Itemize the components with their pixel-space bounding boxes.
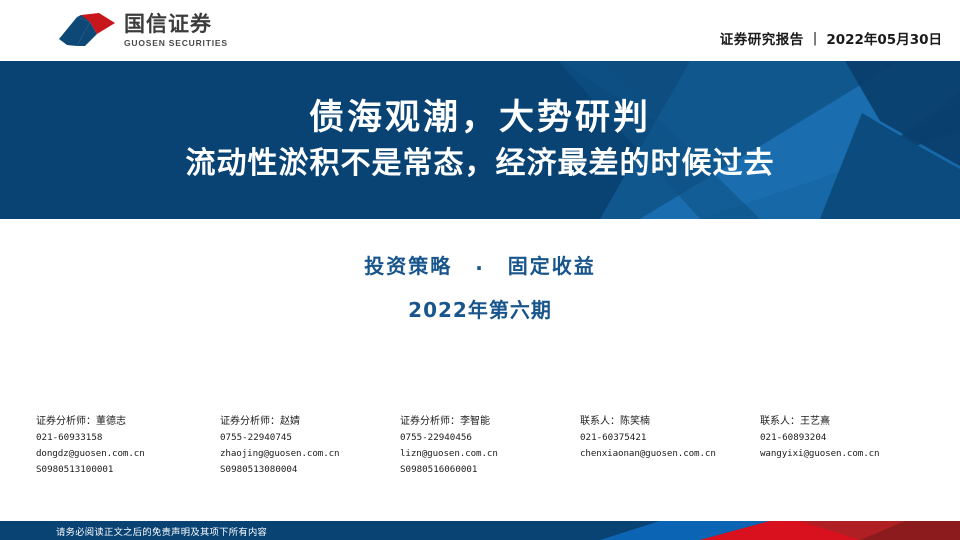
analyst-license: S0980516060001 bbox=[400, 462, 544, 478]
report-title: 债海观潮，大势研判 bbox=[309, 98, 651, 138]
page-header: 国信证券 GUOSEN SECURITIES 证券研究报告 | 2022年05月… bbox=[0, 0, 960, 61]
contact-person-email[interactable]: wangyixi@guosen.com.cn bbox=[760, 446, 914, 462]
brand-name-cn: 国信证券 bbox=[124, 13, 228, 35]
contact-card: 联系人：王艺熹 021-60893204 wangyixi@guosen.com… bbox=[724, 414, 914, 478]
report-date: 2022年05月30日 bbox=[826, 28, 942, 48]
contact-person-email[interactable]: chenxiaonan@guosen.com.cn bbox=[580, 446, 724, 462]
header-divider: | bbox=[813, 30, 818, 46]
report-subtitle: 流动性淤积不是常态，经济最差的时候过去 bbox=[186, 146, 775, 182]
analyst-phone: 0755-22940745 bbox=[220, 430, 364, 446]
contact-person-phone: 021-60375421 bbox=[580, 430, 724, 446]
series-separator-dot: · bbox=[475, 256, 485, 280]
series-category-strategy: 投资策略 bbox=[364, 254, 452, 278]
contact-card: 证券分析师：李智能 0755-22940456 lizn@guosen.com.… bbox=[364, 414, 544, 478]
analyst-name: 证券分析师：李智能 bbox=[400, 414, 544, 430]
analyst-email[interactable]: lizn@guosen.com.cn bbox=[400, 446, 544, 462]
banner-text-block: 债海观潮，大势研判 流动性淤积不是常态，经济最差的时候过去 bbox=[0, 61, 960, 219]
analyst-phone: 0755-22940456 bbox=[400, 430, 544, 446]
series-category-fixed-income: 固定收益 bbox=[508, 254, 596, 278]
analyst-email[interactable]: zhaojing@guosen.com.cn bbox=[220, 446, 364, 462]
contact-person-phone: 021-60893204 bbox=[760, 430, 914, 446]
contact-person-name: 联系人：陈笑楠 bbox=[580, 414, 724, 430]
footer-disclaimer: 请务必阅读正文之后的免责声明及其项下所有内容 bbox=[56, 521, 267, 540]
brand-wordmark: 国信证券 GUOSEN SECURITIES bbox=[124, 12, 228, 47]
analyst-license: S0980513080004 bbox=[220, 462, 364, 478]
contact-card: 证券分析师：赵婧 0755-22940745 zhaojing@guosen.c… bbox=[184, 414, 364, 478]
header-meta: 证券研究报告 | 2022年05月30日 bbox=[720, 28, 942, 48]
guosen-logo-mark-icon bbox=[57, 12, 117, 48]
page-footer: 请务必阅读正文之后的免责声明及其项下所有内容 bbox=[0, 521, 960, 540]
brand-name-en: GUOSEN SECURITIES bbox=[124, 38, 228, 48]
analyst-contacts: 证券分析师：董德志 021-60933158 dongdz@guosen.com… bbox=[0, 414, 960, 478]
series-line: 投资策略 · 固定收益 bbox=[0, 250, 960, 280]
analyst-phone: 021-60933158 bbox=[36, 430, 184, 446]
analyst-name: 证券分析师：赵婧 bbox=[220, 414, 364, 430]
analyst-license: S0980513100001 bbox=[36, 462, 184, 478]
contact-person-name: 联系人：王艺熹 bbox=[760, 414, 914, 430]
contact-card: 联系人：陈笑楠 021-60375421 chenxiaonan@guosen.… bbox=[544, 414, 724, 478]
brand-logo: 国信证券 GUOSEN SECURITIES bbox=[57, 12, 228, 48]
report-cover-page: 国信证券 GUOSEN SECURITIES 证券研究报告 | 2022年05月… bbox=[0, 0, 960, 540]
contact-card: 证券分析师：董德志 021-60933158 dongdz@guosen.com… bbox=[0, 414, 184, 478]
report-type-label: 证券研究报告 bbox=[720, 28, 804, 48]
analyst-name: 证券分析师：董德志 bbox=[36, 414, 184, 430]
cover-body: 投资策略 · 固定收益 2022年第六期 证券分析师：董德志 021-60933… bbox=[0, 219, 960, 521]
issue-number: 2022年第六期 bbox=[0, 294, 960, 323]
analyst-email[interactable]: dongdz@guosen.com.cn bbox=[36, 446, 184, 462]
title-banner: 债海观潮，大势研判 流动性淤积不是常态，经济最差的时候过去 bbox=[0, 61, 960, 219]
